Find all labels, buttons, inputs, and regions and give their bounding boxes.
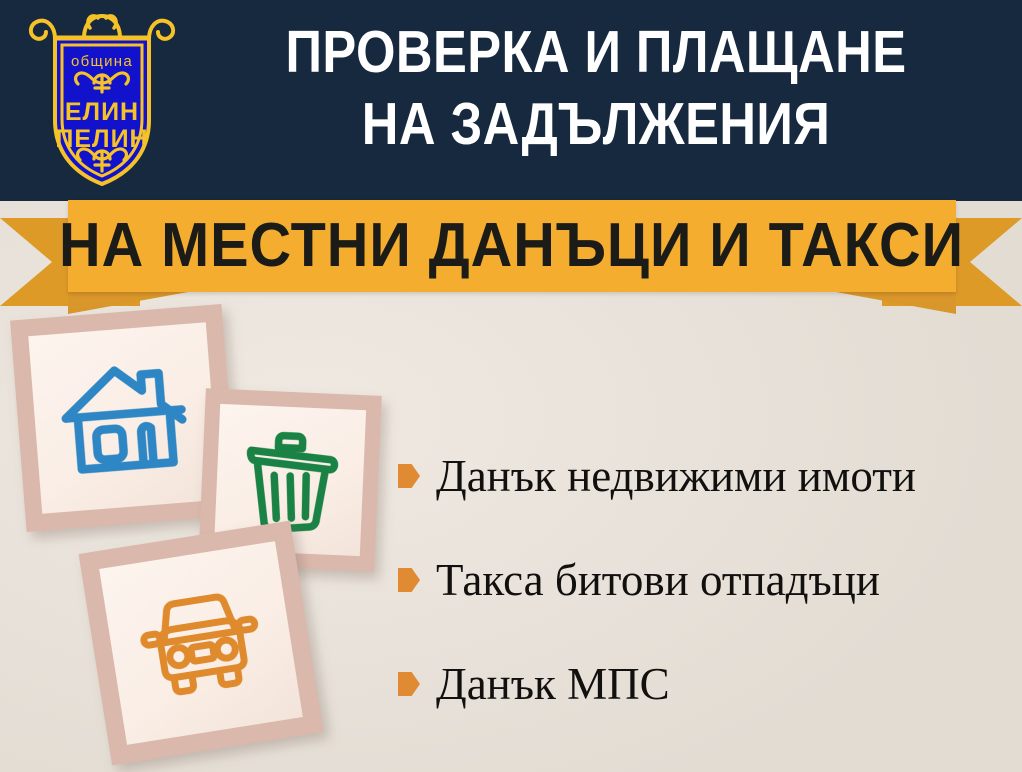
ribbon-main-panel: НА МЕСТНИ ДАНЪЦИ И ТАКСИ [68, 200, 956, 292]
tax-type-list: Данък недвижими имоти Такса битови отпад… [398, 424, 1010, 736]
list-item-label: Данък недвижими имоти [436, 451, 916, 501]
car-icon [79, 521, 324, 766]
crest-svg: община ЕЛИН ПЕЛИН [22, 8, 182, 193]
list-item-label: Такса битови отпадъци [436, 555, 880, 605]
ribbon-banner: НА МЕСТНИ ДАНЪЦИ И ТАКСИ [0, 196, 1022, 306]
poster-canvas: община ЕЛИН ПЕЛИН ПРОВЕРКА И ПЛАЩАНЕ НА … [0, 0, 1022, 772]
list-item[interactable]: Данък МПС [398, 632, 1010, 736]
bullet-arrow-icon [398, 568, 420, 592]
bullet-arrow-icon [398, 464, 420, 488]
coat-of-arms: община ЕЛИН ПЕЛИН [22, 8, 182, 193]
header-band: община ЕЛИН ПЕЛИН ПРОВЕРКА И ПЛАЩАНЕ НА … [0, 0, 1022, 201]
list-item[interactable]: Такса битови отпадъци [398, 528, 1010, 632]
page-title: ПРОВЕРКА И ПЛАЩАНЕ НА ЗАДЪЛЖЕНИЯ [243, 16, 948, 160]
crest-line-name-1: ЕЛИН [65, 98, 139, 126]
ribbon-subtitle: НА МЕСТНИ ДАНЪЦИ И ТАКСИ [60, 215, 965, 277]
ribbon-fold-right [836, 292, 956, 314]
crest-line-name-2: ПЕЛИН [55, 125, 148, 153]
stamp-card-car [79, 521, 324, 766]
crest-line-top: община [71, 53, 133, 70]
bullet-arrow-icon [398, 672, 420, 696]
list-item-label: Данък МПС [436, 659, 670, 709]
list-item[interactable]: Данък недвижими имоти [398, 424, 1010, 528]
